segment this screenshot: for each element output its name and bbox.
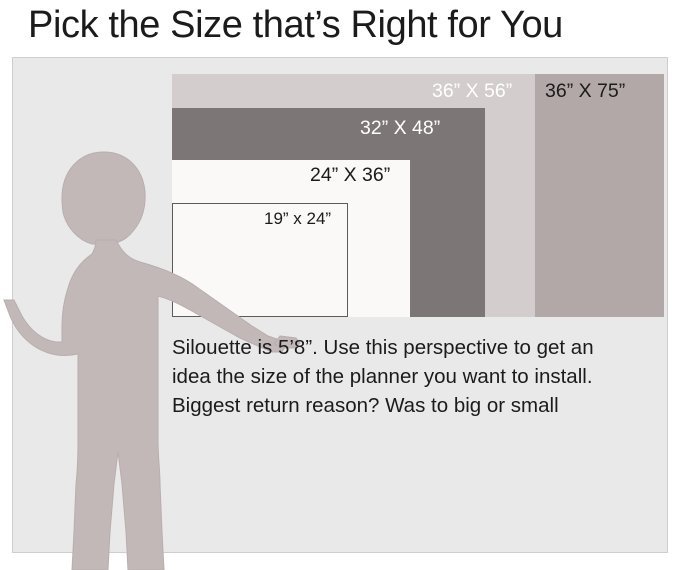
size-label-32x48: 32” X 48” bbox=[360, 117, 440, 139]
size-label-24x36: 24” X 36” bbox=[310, 164, 390, 186]
size-label-36x75: 36” X 75” bbox=[545, 80, 625, 102]
size-rect-36x75[interactable] bbox=[535, 74, 664, 317]
page-title: Pick the Size that’s Right for You bbox=[28, 1, 658, 51]
description-line-2: idea the size of the planner you want to… bbox=[172, 362, 664, 391]
description-text: Silouette is 5’8”. Use this perspective … bbox=[172, 333, 664, 420]
description-line-1: Silouette is 5’8”. Use this perspective … bbox=[172, 333, 664, 362]
description-line-3: Biggest return reason? Was to big or sma… bbox=[172, 391, 664, 420]
size-label-36x56: 36” X 56” bbox=[432, 80, 512, 102]
poster-canvas: Pick the Size that’s Right for You 36” X… bbox=[0, 0, 679, 570]
size-label-19x24: 19” x 24” bbox=[264, 208, 331, 230]
